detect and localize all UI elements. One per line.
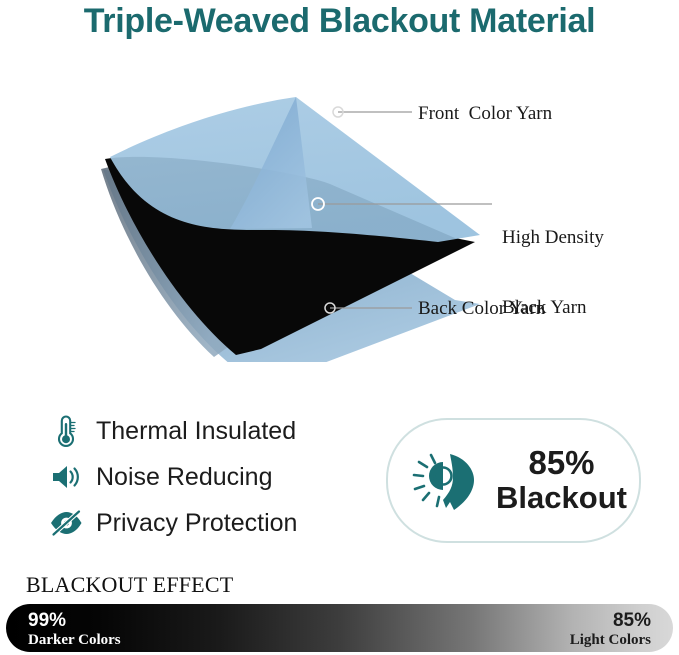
blackout-effect-gradient-bar: 99% Darker Colors 85% Light Colors [6, 604, 673, 652]
feature-label: Privacy Protection [96, 509, 297, 538]
gradient-bar-right-percent: 85% [570, 611, 651, 632]
gradient-bar-left-sublabel: Darker Colors [28, 632, 121, 649]
gradient-bar-right-stat: 85% Light Colors [570, 611, 651, 648]
label-high-density-line1: High Density [502, 226, 604, 249]
sun-blocked-by-curtain-icon [402, 441, 494, 521]
badge-word: Blackout [496, 480, 627, 515]
feature-label: Thermal Insulated [96, 417, 296, 446]
feature-item-thermal-insulated: Thermal Insulated [44, 408, 374, 454]
label-front-color-yarn: Front Color Yarn [418, 102, 552, 125]
gradient-bar-left-percent: 99% [28, 611, 121, 632]
blackout-effect-caption: BLACKOUT EFFECT [26, 572, 233, 598]
gradient-bar-right-sublabel: Light Colors [570, 632, 651, 649]
speaker-sound-icon [44, 458, 88, 496]
badge-percent: 85% [528, 444, 594, 481]
page-title: Triple-Weaved Blackout Material [0, 2, 679, 41]
feature-item-noise-reducing: Noise Reducing [44, 454, 374, 500]
badge-text: 85% Blackout [494, 446, 639, 515]
feature-label: Noise Reducing [96, 463, 273, 492]
thermometer-icon [44, 412, 88, 450]
gradient-bar-left-stat: 99% Darker Colors [28, 611, 121, 648]
blackout-percentage-badge: 85% Blackout [386, 418, 641, 543]
feature-list: Thermal Insulated Noise Reducing Privacy… [44, 408, 374, 546]
eye-slash-icon [44, 504, 88, 542]
label-back-color-yarn: Back Color Yarn [418, 297, 545, 320]
feature-item-privacy-protection: Privacy Protection [44, 500, 374, 546]
